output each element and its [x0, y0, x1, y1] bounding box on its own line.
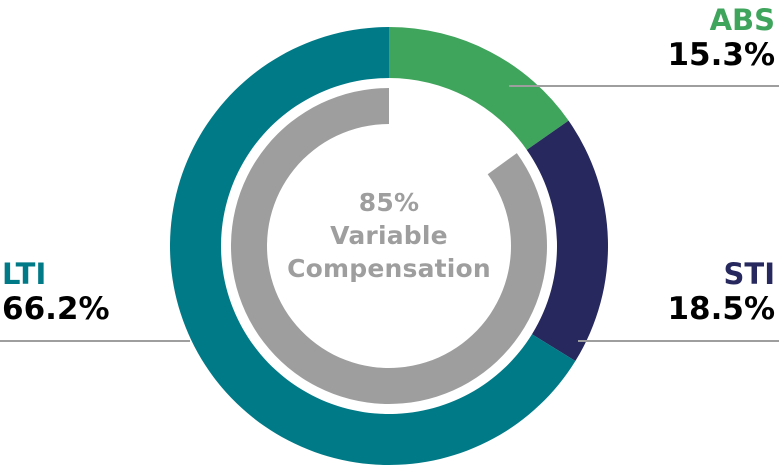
callout-sti: STI 18.5%: [667, 258, 775, 327]
leader-line-sti: [578, 340, 779, 342]
donut-slice-variable-compensation[interactable]: [231, 88, 547, 404]
callout-abs-category: ABS: [667, 4, 775, 37]
callout-abs: ABS 15.3%: [667, 4, 775, 73]
donut-slice-abs[interactable]: [389, 27, 569, 150]
callout-sti-value: 18.5%: [667, 291, 775, 327]
leader-line-lti: [0, 340, 190, 342]
inner-variable-ring: [231, 88, 547, 404]
callout-lti: LTI 66.2%: [2, 258, 110, 327]
callout-sti-category: STI: [667, 258, 775, 291]
callout-abs-value: 15.3%: [667, 37, 775, 73]
donut-chart-svg: [0, 0, 779, 475]
donut-chart-canvas: 85% Variable Compensation ABS 15.3% STI …: [0, 0, 779, 475]
callout-lti-value: 66.2%: [2, 291, 110, 327]
leader-line-abs: [509, 85, 779, 87]
callout-lti-category: LTI: [2, 258, 110, 291]
